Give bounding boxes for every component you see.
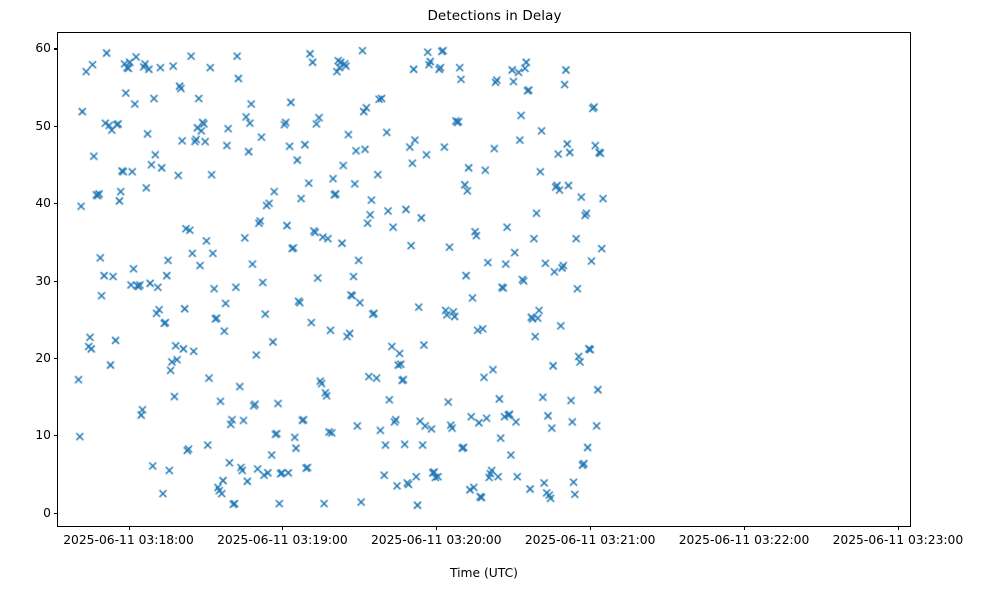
figure: Detections in Delay Bistatic Delay (km) … <box>0 0 989 590</box>
x-tick-mark <box>436 526 437 530</box>
y-tick-label: 0 <box>43 506 51 520</box>
y-tick-mark <box>54 126 58 127</box>
y-tick-mark <box>54 281 58 282</box>
y-tick-mark <box>54 513 58 514</box>
x-tick-label: 2025-06-11 03:20:00 <box>371 533 502 547</box>
x-tick-mark <box>129 526 130 530</box>
y-tick-mark <box>54 203 58 204</box>
y-tick-mark <box>54 48 58 49</box>
x-tick-mark <box>744 526 745 530</box>
chart-title: Detections in Delay <box>0 8 989 24</box>
x-tick-mark <box>590 526 591 530</box>
y-tick-label: 30 <box>35 274 51 288</box>
x-tick-label: 2025-06-11 03:21:00 <box>525 533 656 547</box>
y-tick-mark <box>54 358 58 359</box>
scatter-plot-canvas <box>58 33 910 526</box>
y-tick-label: 10 <box>35 428 51 442</box>
y-tick-label: 40 <box>35 196 51 210</box>
y-tick-label: 60 <box>35 41 51 55</box>
x-axis-label: Time (UTC) <box>57 566 911 580</box>
x-tick-mark <box>898 526 899 530</box>
x-tick-label: 2025-06-11 03:23:00 <box>833 533 964 547</box>
x-tick-label: 2025-06-11 03:19:00 <box>217 533 348 547</box>
x-tick-label: 2025-06-11 03:22:00 <box>679 533 810 547</box>
x-tick-mark <box>282 526 283 530</box>
y-tick-label: 20 <box>35 351 51 365</box>
y-tick-mark <box>54 435 58 436</box>
y-tick-label: 50 <box>35 119 51 133</box>
plot-axes: 0102030405060 2025-06-11 03:18:002025-06… <box>57 32 911 527</box>
x-tick-label: 2025-06-11 03:18:00 <box>63 533 194 547</box>
